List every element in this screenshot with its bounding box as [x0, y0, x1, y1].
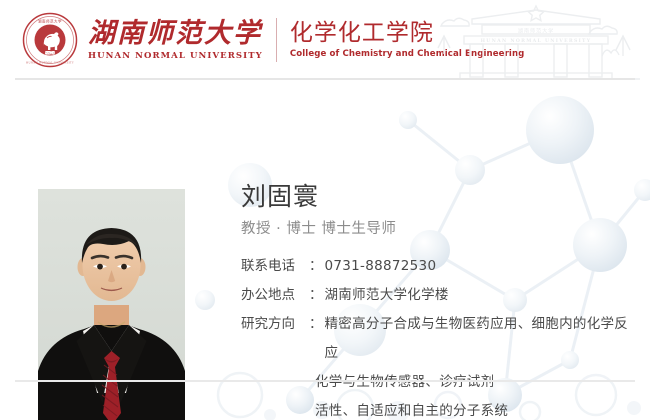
header-divider [15, 78, 635, 80]
university-name-en: HUNAN NORMAL UNIVERSITY [88, 50, 263, 62]
footer-divider [15, 380, 635, 382]
svg-text:HUNAN NORMAL UNIVERSITY: HUNAN NORMAL UNIVERSITY [26, 62, 74, 65]
field-research-value-line-3: 活性、自适应和自主的分子系统 [315, 397, 508, 420]
field-office-colon: ： [309, 281, 323, 310]
field-research-value-line-1: 精密高分子合成与生物医药应用、细胞内的化学反应 [325, 310, 642, 368]
university-name-block: 湖南师范大学 HUNAN NORMAL UNIVERSITY [88, 19, 263, 62]
field-research-label: 研究方向 [241, 310, 307, 339]
field-research-line-3: 活性、自适应和自主的分子系统 [241, 397, 641, 420]
field-research-line-2: 化学与生物传感器、诊疗试剂 [241, 368, 641, 397]
header-separator [276, 18, 277, 62]
svg-text:一八三八: 一八三八 [45, 52, 56, 55]
field-office-label: 办公地点 [241, 281, 307, 310]
watermark-text-cn: 湖南师范大学 [518, 27, 555, 35]
field-phone-label: 联系电话 [241, 252, 307, 281]
faculty-info-block: 刘固寰 教授 · 博士 博士生导师 联系电话 ： 0731-88872530 办… [241, 182, 641, 420]
field-office: 办公地点 ： 湖南师范大学化学楼 [241, 281, 641, 310]
campus-gate-watermark-icon: 湖南师范大学 HUNAN NORMAL UNIVERSITY [430, 2, 640, 80]
university-name-cn: 湖南师范大学 [88, 19, 263, 49]
svg-text:湖南师范大学: 湖南师范大学 [38, 18, 62, 23]
watermark-text-en: HUNAN NORMAL UNIVERSITY [481, 38, 592, 44]
faculty-titles: 教授 · 博士 博士生导师 [241, 218, 641, 240]
field-phone-colon: ： [309, 252, 323, 281]
field-research-value-line-2: 化学与生物传感器、诊疗试剂 [315, 368, 494, 397]
faculty-name: 刘固寰 [241, 182, 641, 212]
university-crest-icon: 一八三八 湖南师范大学 HUNAN NORMAL UNIVERSITY [22, 12, 78, 68]
field-research-colon: ： [309, 310, 323, 339]
field-research: 研究方向 ： 精密高分子合成与生物医药应用、细胞内的化学反应 [241, 310, 641, 368]
field-phone: 联系电话 ： 0731-88872530 [241, 252, 641, 281]
faculty-profile-page: 湖南师范大学 HUNAN NORMAL UNIVERSITY 一八三八 湖南师范… [0, 0, 650, 420]
field-phone-value: 0731-88872530 [325, 252, 437, 281]
site-header: 湖南师范大学 HUNAN NORMAL UNIVERSITY 一八三八 湖南师范… [0, 0, 650, 82]
faculty-portrait-photo [38, 189, 185, 420]
field-office-value: 湖南师范大学化学楼 [325, 281, 449, 310]
